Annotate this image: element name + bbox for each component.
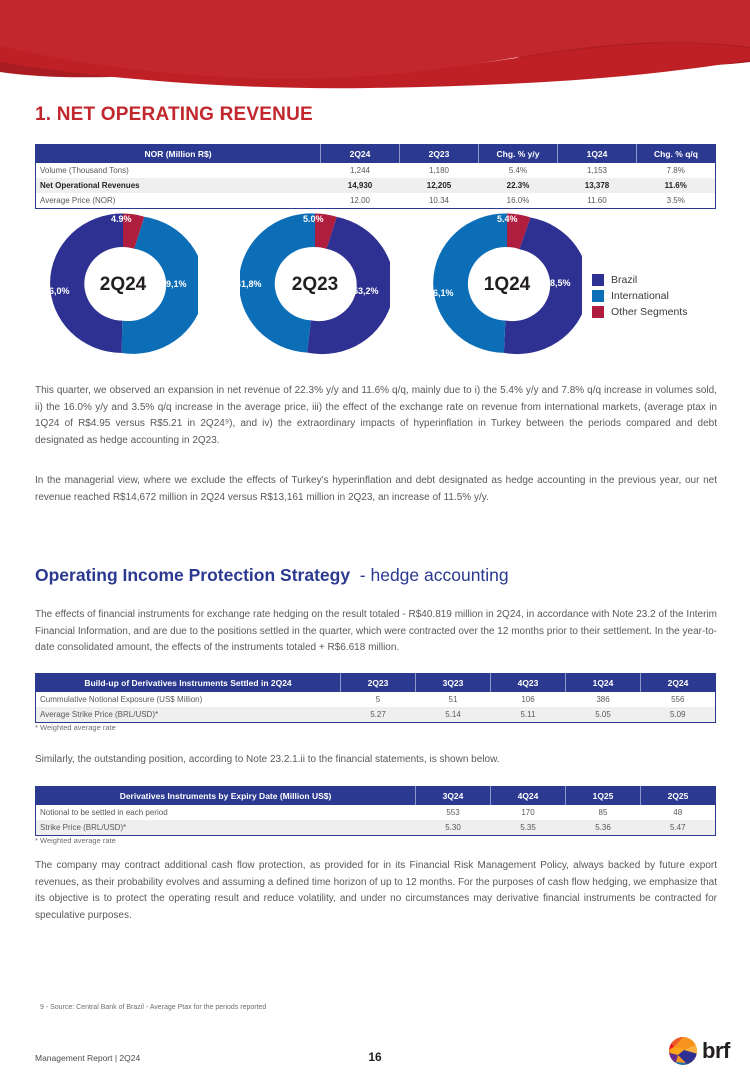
col-header-2q23: 2Q23 bbox=[341, 674, 416, 693]
col-header-metric: Build-up of Derivatives Instruments Sett… bbox=[36, 674, 341, 693]
col-header-2q24: 2Q24 bbox=[641, 674, 716, 693]
cell-value: 14,930 bbox=[321, 178, 400, 193]
paragraph-managerial-view: In the managerial view, where we exclude… bbox=[35, 473, 717, 506]
page-title: 1. NET OPERATING REVENUE bbox=[35, 104, 313, 126]
cell-value: 553 bbox=[416, 805, 491, 820]
donut-chart-2q24: 2Q24 4.9% 49,1% 46,0% bbox=[48, 212, 198, 357]
slice-label-international: 41,8% bbox=[236, 279, 262, 289]
cell-value: 5.27 bbox=[341, 707, 416, 723]
cell-value: 1,244 bbox=[321, 163, 400, 178]
table-buildup-derivatives-settled: Build-up of Derivatives Instruments Sett… bbox=[35, 673, 716, 723]
table-row: Strike Price (BRL/USD)* 5.30 5.35 5.36 5… bbox=[36, 820, 716, 836]
slice-label-other-segments: 5.0% bbox=[303, 214, 324, 224]
cell-value: 11.6% bbox=[637, 178, 716, 193]
table-row: Net Operational Revenues 14,930 12,205 2… bbox=[36, 178, 716, 193]
slice-label-international: 46,1% bbox=[428, 288, 454, 298]
col-header-3q24: 3Q24 bbox=[416, 787, 491, 806]
table-note-buildup: * Weighted average rate bbox=[35, 723, 116, 732]
slice-label-other-segments: 5.4% bbox=[497, 214, 518, 224]
cell-value: 5.36 bbox=[566, 820, 641, 836]
table-header-row: Derivatives Instruments by Expiry Date (… bbox=[36, 787, 716, 806]
cell-value: 3.5% bbox=[637, 193, 716, 209]
col-header-2q25: 2Q25 bbox=[641, 787, 716, 806]
table-header-row: Build-up of Derivatives Instruments Sett… bbox=[36, 674, 716, 693]
legend-item-brazil: Brazil bbox=[592, 274, 687, 286]
table-row: Volume (Thousand Tons) 1,244 1,180 5.4% … bbox=[36, 163, 716, 178]
donut-chart-1q24: 1Q24 5.4% 48,5% 46,1% bbox=[432, 212, 582, 357]
paragraph-outstanding-position: Similarly, the outstanding position, acc… bbox=[35, 752, 717, 769]
row-label: Strike Price (BRL/USD)* bbox=[36, 820, 416, 836]
table-net-operating-revenue: NOR (Million R$) 2Q24 2Q23 Chg. % y/y 1Q… bbox=[35, 144, 716, 209]
cell-value: 12,205 bbox=[400, 178, 479, 193]
row-label: Volume (Thousand Tons) bbox=[36, 163, 321, 178]
cell-value: 5 bbox=[341, 692, 416, 707]
heading-light-part: - hedge accounting bbox=[350, 565, 509, 585]
cell-value: 5.11 bbox=[491, 707, 566, 723]
legend-swatch-international bbox=[592, 290, 604, 302]
col-header-4q24: 4Q24 bbox=[491, 787, 566, 806]
cell-value: 48 bbox=[641, 805, 716, 820]
legend-item-international: International bbox=[592, 290, 687, 302]
col-header-2q24: 2Q24 bbox=[321, 145, 400, 164]
paragraph-hedge-effects: The effects of financial instruments for… bbox=[35, 607, 717, 657]
brf-sphere-icon bbox=[668, 1036, 698, 1066]
cell-value: 556 bbox=[641, 692, 716, 707]
footer-page-number: 16 bbox=[0, 1050, 750, 1064]
legend-item-other-segments: Other Segments bbox=[592, 306, 687, 318]
table-header-row: NOR (Million R$) 2Q24 2Q23 Chg. % y/y 1Q… bbox=[36, 145, 716, 164]
col-header-metric: NOR (Million R$) bbox=[36, 145, 321, 164]
table-note-expiry: * Weighted average rate bbox=[35, 836, 116, 845]
row-label: Net Operational Revenues bbox=[36, 178, 321, 193]
table-row: Average Strike Price (BRL/USD)* 5.27 5.1… bbox=[36, 707, 716, 723]
table-row: Cummulative Notional Exposure (US$ Milli… bbox=[36, 692, 716, 707]
brf-wordmark: brf bbox=[702, 1040, 730, 1062]
row-label: Notional to be settled in each period bbox=[36, 805, 416, 820]
row-label: Average Price (NOR) bbox=[36, 193, 321, 209]
col-header-metric: Derivatives Instruments by Expiry Date (… bbox=[36, 787, 416, 806]
donut-chart-2q23: 2Q23 5.0% 53,2% 41,8% bbox=[240, 212, 390, 357]
footnote-source: 9 - Source: Central Bank of Brazil - Ave… bbox=[40, 1004, 266, 1011]
slice-label-brazil: 48,5% bbox=[545, 278, 571, 288]
cell-value: 13,378 bbox=[558, 178, 637, 193]
cell-value: 51 bbox=[416, 692, 491, 707]
paragraph-revenue-analysis: This quarter, we observed an expansion i… bbox=[35, 383, 717, 449]
col-header-1q25: 1Q25 bbox=[566, 787, 641, 806]
cell-value: 12.00 bbox=[321, 193, 400, 209]
cell-value: 5.05 bbox=[566, 707, 641, 723]
col-header-2q23: 2Q23 bbox=[400, 145, 479, 164]
heading-strong-part: Operating Income Protection Strategy bbox=[35, 565, 350, 585]
legend-swatch-other-segments bbox=[592, 306, 604, 318]
slice-label-brazil: 46,0% bbox=[44, 286, 70, 296]
chart-legend: Brazil International Other Segments bbox=[592, 274, 687, 322]
cell-value: 106 bbox=[491, 692, 566, 707]
legend-label: Brazil bbox=[611, 274, 637, 286]
table-row: Average Price (NOR) 12.00 10.34 16.0% 11… bbox=[36, 193, 716, 209]
report-page: 1. NET OPERATING REVENUE NOR (Million R$… bbox=[0, 0, 750, 1083]
cell-value: 22.3% bbox=[479, 178, 558, 193]
row-label: Cummulative Notional Exposure (US$ Milli… bbox=[36, 692, 341, 707]
cell-value: 5.4% bbox=[479, 163, 558, 178]
header-wave-banner bbox=[0, 0, 750, 96]
cell-value: 170 bbox=[491, 805, 566, 820]
cell-value: 16.0% bbox=[479, 193, 558, 209]
cell-value: 5.47 bbox=[641, 820, 716, 836]
table-row: Notional to be settled in each period 55… bbox=[36, 805, 716, 820]
cell-value: 5.30 bbox=[416, 820, 491, 836]
cell-value: 11.60 bbox=[558, 193, 637, 209]
cell-value: 5.14 bbox=[416, 707, 491, 723]
col-header-chg-qq: Chg. % q/q bbox=[637, 145, 716, 164]
cell-value: 7.8% bbox=[637, 163, 716, 178]
paragraph-cash-flow-protection: The company may contract additional cash… bbox=[35, 858, 717, 924]
table-derivatives-by-expiry-date: Derivatives Instruments by Expiry Date (… bbox=[35, 786, 716, 836]
cell-value: 5.35 bbox=[491, 820, 566, 836]
legend-swatch-brazil bbox=[592, 274, 604, 286]
cell-value: 10.34 bbox=[400, 193, 479, 209]
legend-label: International bbox=[611, 290, 669, 302]
slice-label-other-segments: 4.9% bbox=[111, 214, 132, 224]
row-label: Average Strike Price (BRL/USD)* bbox=[36, 707, 341, 723]
brf-logo: brf bbox=[668, 1036, 730, 1066]
col-header-chg-yy: Chg. % y/y bbox=[479, 145, 558, 164]
cell-value: 85 bbox=[566, 805, 641, 820]
col-header-3q23: 3Q23 bbox=[416, 674, 491, 693]
col-header-4q23: 4Q23 bbox=[491, 674, 566, 693]
col-header-1q24: 1Q24 bbox=[558, 145, 637, 164]
cell-value: 1,180 bbox=[400, 163, 479, 178]
legend-label: Other Segments bbox=[611, 306, 687, 318]
cell-value: 5.09 bbox=[641, 707, 716, 723]
cell-value: 1,153 bbox=[558, 163, 637, 178]
col-header-1q24: 1Q24 bbox=[566, 674, 641, 693]
cell-value: 386 bbox=[566, 692, 641, 707]
slice-label-international: 49,1% bbox=[161, 279, 187, 289]
heading-operating-income-protection-strategy: Operating Income Protection Strategy - h… bbox=[35, 565, 509, 586]
slice-label-brazil: 53,2% bbox=[353, 286, 379, 296]
